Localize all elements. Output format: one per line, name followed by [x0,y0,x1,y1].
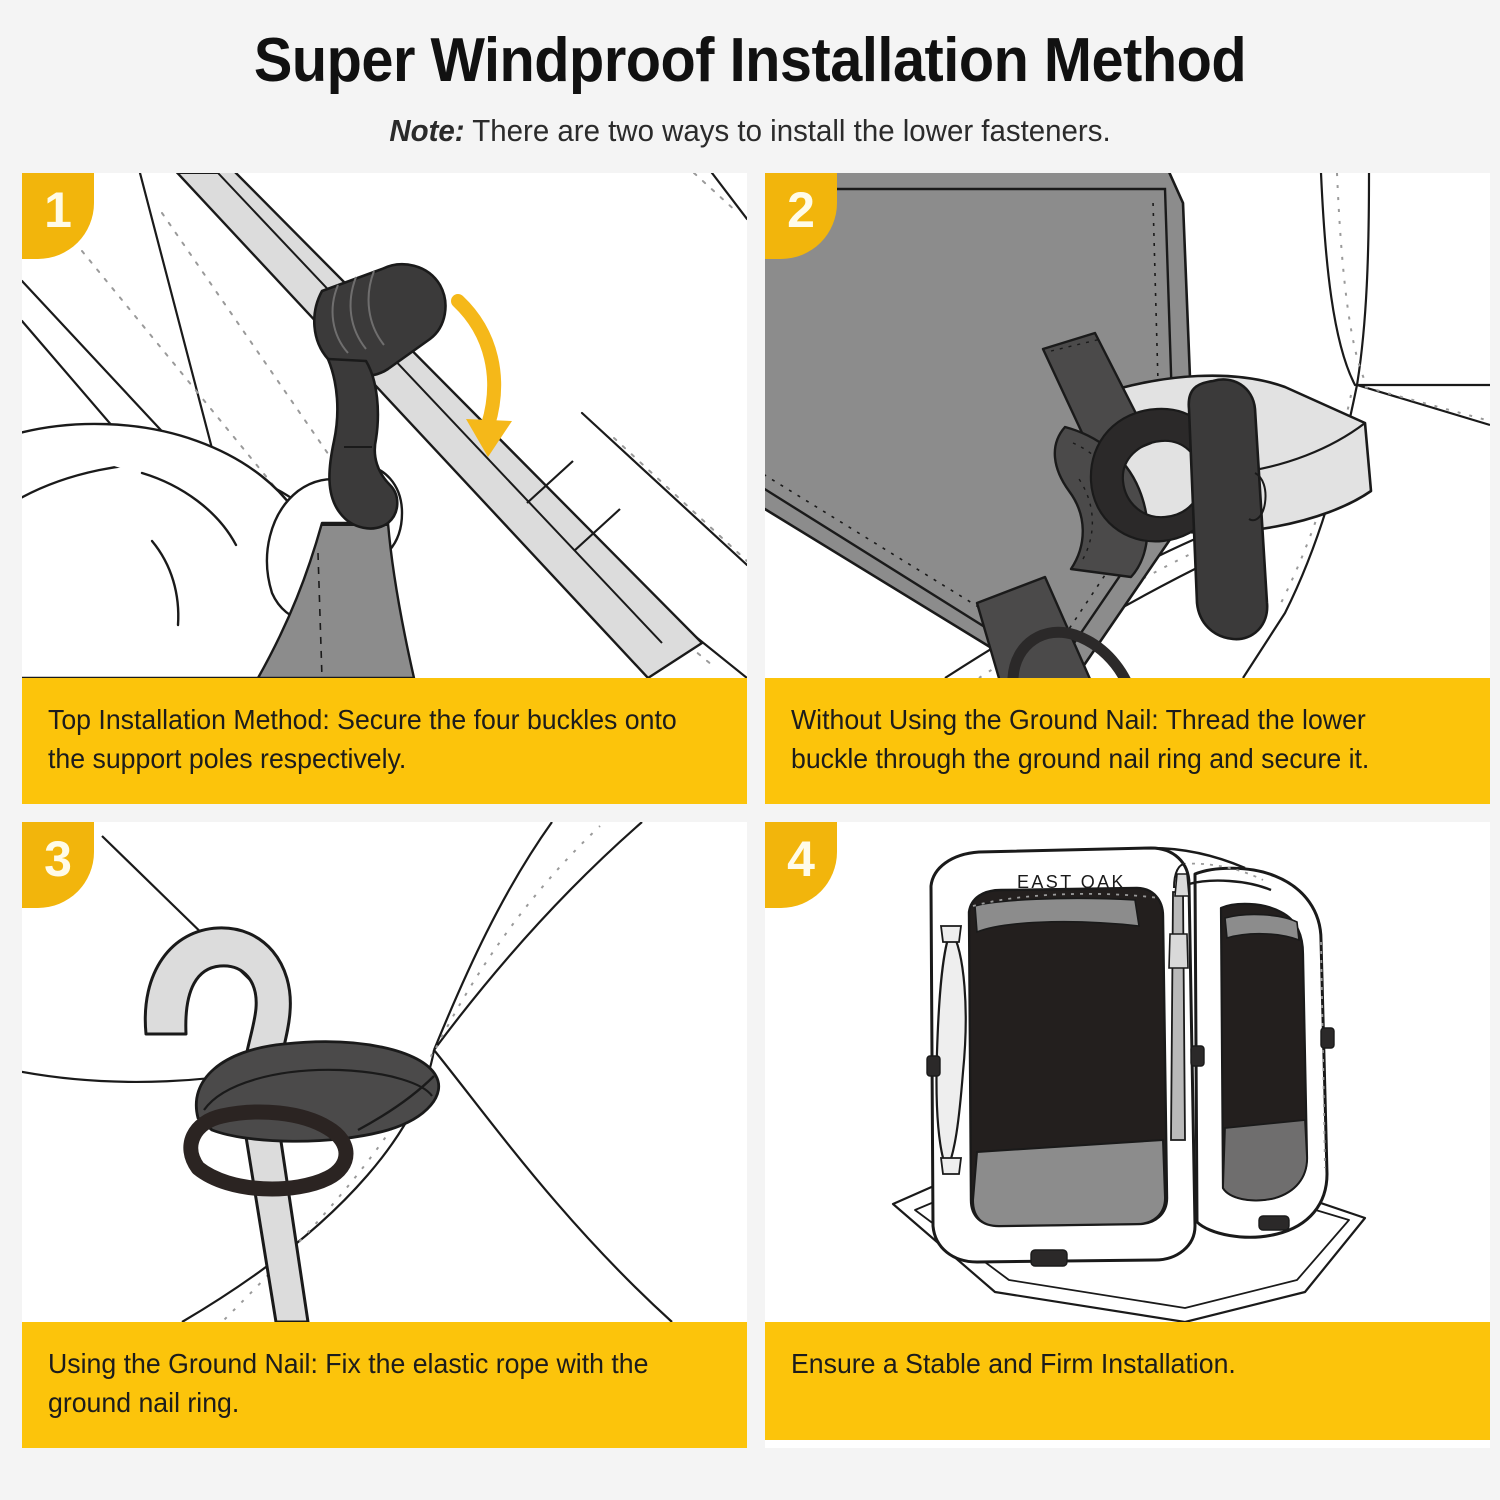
assembled-pop-up-tent: EAST OAK [765,822,1490,1322]
step-badge-2-number: 2 [787,181,815,239]
step-2-illustration [765,173,1490,678]
step-badge-1-number: 1 [44,181,72,239]
lower-buckle-threaded-through-ring [765,173,1490,678]
step-4-illustration: EAST OAK [765,822,1490,1322]
page-header: Super Windproof Installation Method Note… [0,0,1500,149]
note-label: Note: [389,113,464,148]
step-card-4: EAST OAK Ensure a Stable and Firm Instal… [765,822,1490,1448]
step-badge-4-number: 4 [787,830,815,888]
step-4-caption-text: Ensure a Stable and Firm Installation. [791,1344,1444,1383]
step-1-caption: Top Installation Method: Secure the four… [22,678,747,804]
step-card-1: Top Installation Method: Secure the four… [22,173,747,804]
step-3-illustration [22,822,747,1322]
step-2-caption: Without Using the Ground Nail: Thread th… [765,678,1490,804]
step-4-caption: Ensure a Stable and Firm Installation. [765,1322,1490,1440]
tent-brand-label: EAST OAK [1017,872,1126,892]
note-text: There are two ways to install the lower … [465,113,1111,148]
page-subtitle: Note: There are two ways to install the … [38,113,1463,149]
step-1-illustration [22,173,747,678]
step-badge-3-number: 3 [44,830,72,888]
hand-attaching-hook-buckle-to-support-pole [22,173,747,678]
page-title: Super Windproof Installation Method [53,28,1448,93]
ground-nail-hook-with-elastic-rope [22,822,747,1322]
step-2-caption-text: Without Using the Ground Nail: Thread th… [791,700,1444,778]
step-3-caption: Using the Ground Nail: Fix the elastic r… [22,1322,747,1448]
step-1-caption-text: Top Installation Method: Secure the four… [48,700,701,778]
step-card-3: Using the Ground Nail: Fix the elastic r… [22,822,747,1448]
step-card-2: Without Using the Ground Nail: Thread th… [765,173,1490,804]
steps-grid: Top Installation Method: Secure the four… [22,173,1478,1448]
step-3-caption-text: Using the Ground Nail: Fix the elastic r… [48,1344,701,1422]
